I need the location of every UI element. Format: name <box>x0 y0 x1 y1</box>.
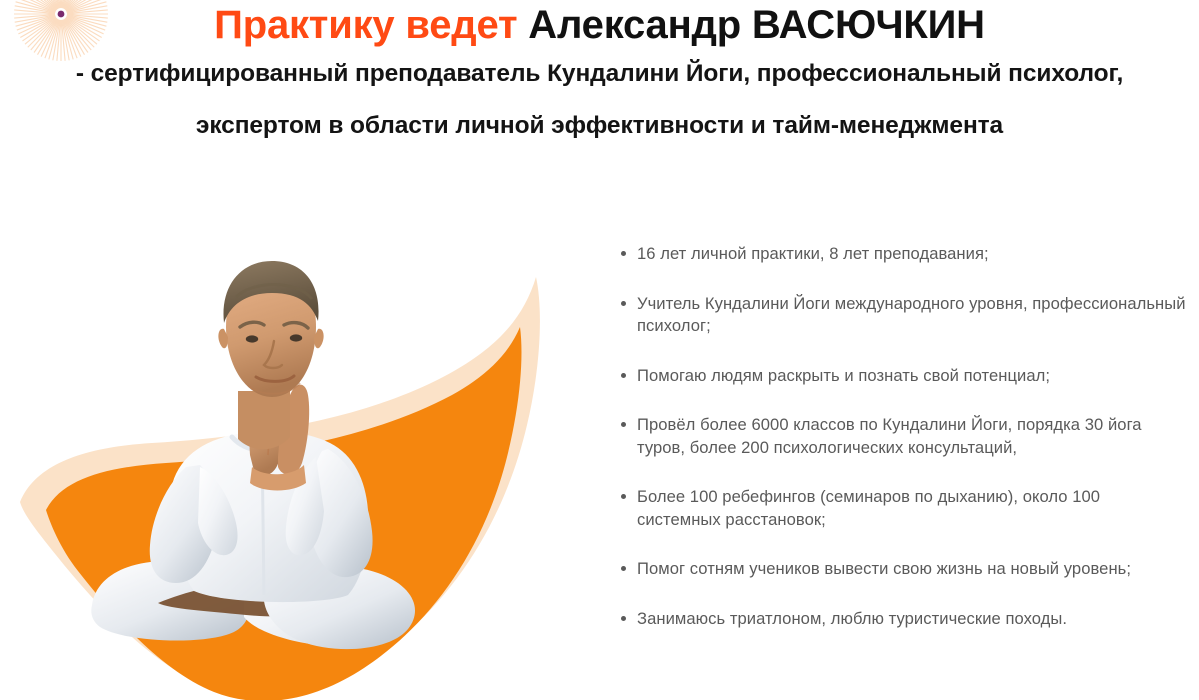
list-item: Провёл более 6000 классов по Кундалини Й… <box>616 414 1188 459</box>
page-subtitle-line-1: - сертифицированный преподаватель Кундал… <box>0 48 1199 100</box>
credentials-list: 16 лет личной практики, 8 лет преподаван… <box>616 243 1188 630</box>
bullet-icon <box>621 616 626 621</box>
list-item-text: Помогаю людям раскрыть и познать свой по… <box>637 365 1188 388</box>
list-item-text: 16 лет личной практики, 8 лет преподаван… <box>637 243 1188 266</box>
page-subtitle-line-2: экспертом в области личной эффективности… <box>0 100 1199 152</box>
bullet-icon <box>621 494 626 499</box>
page-title-name: Александр ВАСЮЧКИН <box>528 3 985 47</box>
list-item: Помогаю людям раскрыть и познать свой по… <box>616 365 1188 388</box>
bullet-icon <box>621 373 626 378</box>
teacher-photo <box>0 205 600 700</box>
list-item: 16 лет личной практики, 8 лет преподаван… <box>616 243 1188 266</box>
hero-illustration <box>0 205 600 700</box>
list-item-text: Учитель Кундалини Йоги международного ур… <box>637 293 1188 338</box>
page-title-accent: Практику ведет <box>214 3 517 47</box>
bullet-icon <box>621 251 626 256</box>
list-item-text: Провёл более 6000 классов по Кундалини Й… <box>637 414 1188 459</box>
list-item: Занимаюсь триатлоном, люблю туристически… <box>616 608 1188 631</box>
list-item-text: Помог сотням учеников вывести свою жизнь… <box>637 558 1188 581</box>
bullet-icon <box>621 566 626 571</box>
list-item: Более 100 ребефингов (семинаров по дыхан… <box>616 486 1188 531</box>
list-item: Помог сотням учеников вывести свою жизнь… <box>616 558 1188 581</box>
list-item-text: Занимаюсь триатлоном, люблю туристически… <box>637 608 1188 631</box>
list-item-text: Более 100 ребефингов (семинаров по дыхан… <box>637 486 1188 531</box>
bullet-icon <box>621 301 626 306</box>
page-title: Практику ведет Александр ВАСЮЧКИН <box>0 0 1199 48</box>
page-header: Практику ведет Александр ВАСЮЧКИН - серт… <box>0 0 1199 152</box>
list-item: Учитель Кундалини Йоги международного ур… <box>616 293 1188 338</box>
bullet-icon <box>621 422 626 427</box>
